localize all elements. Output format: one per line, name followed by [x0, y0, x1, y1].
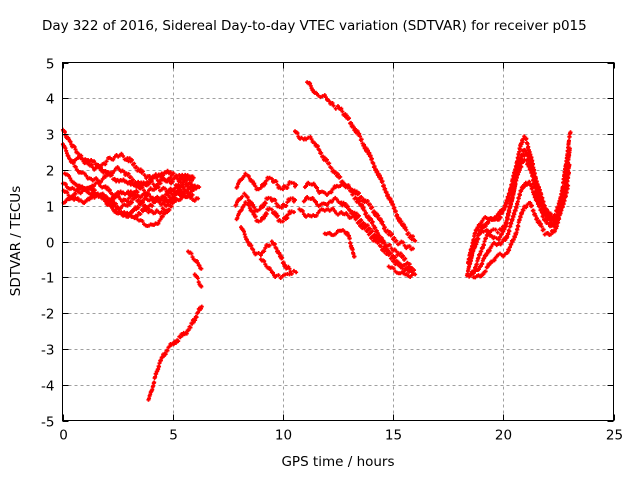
y-tick-label: -4: [41, 379, 54, 395]
x-tick-label: 5: [169, 428, 178, 444]
y-axis-title: SDTVAR / TECUs: [8, 186, 24, 296]
plot-frame: [63, 63, 614, 421]
data-points-layer: [61, 80, 573, 402]
y-tick-label: 3: [46, 128, 55, 144]
y-tick-label: -3: [41, 343, 54, 359]
x-axis-title: GPS time / hours: [281, 454, 394, 470]
gridlines: [63, 63, 614, 421]
x-tick-label: 0: [59, 428, 68, 444]
y-tick-label: 1: [46, 200, 55, 216]
axis-tick-labels: -5-4-3-2-10123450510152025: [41, 57, 623, 444]
scatter-plot: -5-4-3-2-10123450510152025 GPS time / ho…: [0, 0, 640, 480]
x-tick-label: 25: [606, 428, 623, 444]
y-tick-label: -2: [41, 307, 54, 323]
x-tick-label: 10: [275, 428, 292, 444]
chart-page: Day 322 of 2016, Sidereal Day-to-day VTE…: [0, 0, 640, 480]
y-tick-label: 5: [46, 57, 55, 73]
y-tick-label: 2: [46, 164, 55, 180]
y-tick-label: -1: [41, 271, 54, 287]
y-tick-label: -5: [41, 415, 54, 431]
y-tick-label: 0: [46, 236, 55, 252]
x-tick-label: 20: [495, 428, 512, 444]
x-tick-label: 15: [385, 428, 402, 444]
y-tick-label: 4: [46, 92, 55, 108]
